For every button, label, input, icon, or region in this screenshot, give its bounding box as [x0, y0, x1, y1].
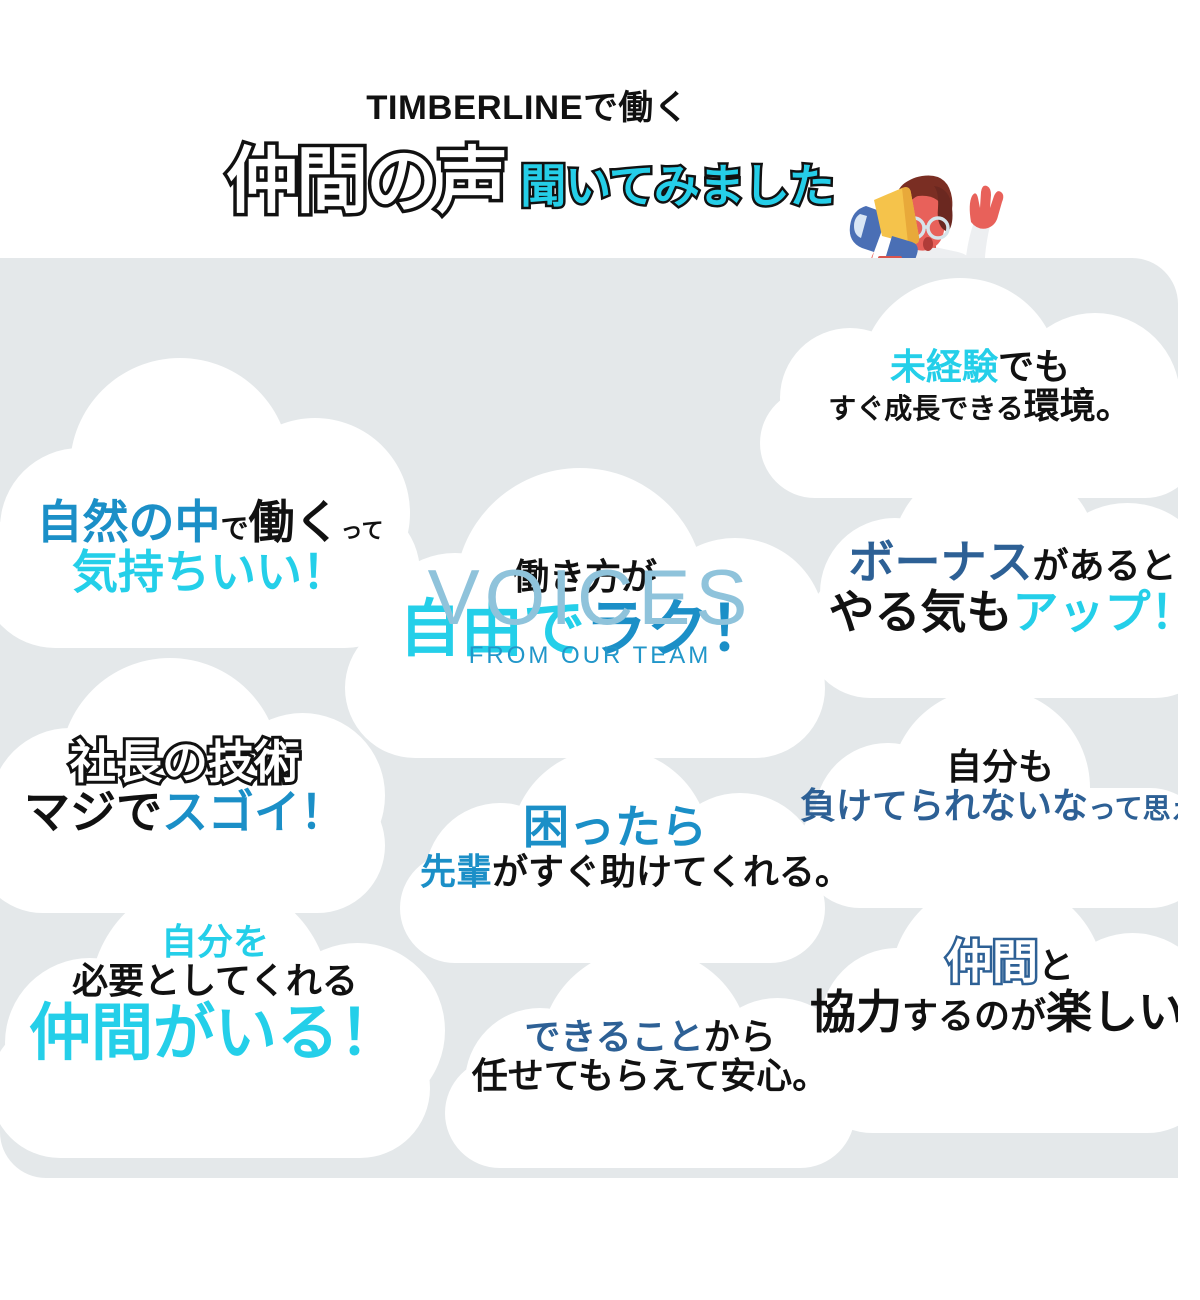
voice-text-teamwork: 仲間と協力するのが楽しい！ [810, 938, 1178, 1037]
voice-text-line: 負けてられないなって思える。 [800, 787, 1178, 826]
voice-text-line: 協力するのが楽しい！ [810, 988, 1178, 1038]
voice-text-inexperienced: 未経験でもすぐ成長できる環境。 [780, 348, 1178, 426]
voice-text-line: 気持ちいい！ [20, 548, 400, 598]
voice-text-segment: って思える。 [1088, 793, 1178, 824]
voice-text-segment: 環境。 [1024, 385, 1132, 426]
voice-text-line: 先輩がすぐ助けてくれる。 [420, 853, 810, 892]
voice-text-self-motivation: 自分も負けてられないなって思える。 [800, 748, 1178, 826]
voice-text-segment: 働く [249, 496, 341, 548]
voice-text-line: 自然の中で働くって [20, 498, 400, 548]
voice-text-start-small: できることから任せてもらえて安心。 [460, 1018, 840, 1096]
voice-text-nature: 自然の中で働くって気持ちいい！ [20, 498, 400, 597]
voice-text-segment: 楽しい！ [1046, 986, 1178, 1038]
voice-text-line: 自分を [20, 923, 410, 962]
voice-text-line: 仲間と [810, 938, 1178, 988]
voices-panel: 自然の中で働くって気持ちいい！ 未経験でもすぐ成長できる環境。 ボーナスがあると… [0, 258, 1178, 1178]
voice-cloud-senior-help: 困ったら先輩がすぐ助けてくれる。 [400, 748, 830, 968]
voice-cloud-bonus: ボーナスがあるとやる気もアップ！ [800, 458, 1178, 708]
headline-title: 仲間の声 [226, 142, 506, 222]
voice-text-segment: 仲間がいる！ [29, 999, 401, 1068]
voice-cloud-teamwork: 仲間と協力するのが楽しい！ [800, 878, 1178, 1138]
voices-page: TIMBERLINEで働く 仲間の声聞いてみました [0, 0, 1200, 1300]
clouds-container: 自然の中で働くって気持ちいい！ 未経験でもすぐ成長できる環境。 ボーナスがあると… [0, 258, 1178, 1178]
voice-text-segment: 必要としてくれる [72, 960, 358, 1001]
voice-text-line: ボーナスがあると [810, 538, 1178, 588]
voice-text-segment: 自然の中 [37, 496, 221, 548]
voice-text-segment: スゴイ！ [162, 786, 346, 838]
voice-text-segment: でも [998, 346, 1070, 387]
voice-text-segment: するのが [902, 995, 1046, 1036]
voice-text-line: 自分も [800, 748, 1178, 787]
voice-text-line: できることから [460, 1018, 840, 1057]
voice-cloud-start-small: できることから任せてもらえて安心。 [440, 948, 860, 1168]
headline-subtitle: 聞いてみました [520, 150, 834, 216]
voice-text-segment: 負けてられないな [800, 785, 1088, 826]
voice-text-line: マジでスゴイ！ [0, 788, 375, 838]
voice-text-segment: 社長の技術 [70, 736, 300, 788]
voice-text-line: 社長の技術 [0, 738, 375, 788]
voice-text-segment: すぐ成長できる [828, 393, 1023, 424]
voice-text-line: 必要としてくれる [20, 962, 410, 1001]
voice-text-segment: って [341, 518, 384, 543]
voice-text-needed-friends: 自分を必要としてくれる仲間がいる！ [20, 923, 410, 1068]
voice-text-segment: やる気も [829, 586, 1013, 638]
voice-text-segment: ボーナス [848, 536, 1032, 588]
voice-text-segment: があると [1032, 545, 1176, 586]
voice-text-segment: アップ！ [1013, 586, 1179, 638]
voice-text-segment: 未経験 [890, 346, 998, 387]
voice-text-segment: がすぐ助けてくれる。 [492, 851, 851, 892]
voices-logo-subtitle: FROM OUR TEAM [400, 642, 780, 670]
voice-text-segment: 協力 [810, 986, 902, 1038]
voice-text-line: 任せてもらえて安心。 [460, 1057, 840, 1096]
voice-text-bonus: ボーナスがあるとやる気もアップ！ [810, 538, 1178, 637]
voice-text-segment: 任せてもらえて安心。 [472, 1055, 828, 1096]
voice-text-line: やる気もアップ！ [810, 588, 1178, 638]
voice-text-segment: できること [524, 1016, 703, 1057]
page-headline: TIMBERLINEで働く 仲間の声聞いてみました [0, 60, 1200, 240]
voice-text-segment: 気持ちいい！ [72, 546, 348, 598]
voice-text-line: 困ったら [420, 803, 810, 853]
voice-text-segment: から [704, 1016, 776, 1057]
voice-text-segment: で [221, 513, 249, 544]
voices-logo: VOICES FROM OUR TEAM [400, 558, 780, 670]
voice-text-segment: マジで [24, 786, 162, 838]
voice-text-president-skill: 社長の技術マジでスゴイ！ [0, 738, 375, 837]
voice-text-segment: 困ったら [523, 801, 707, 853]
voice-text-line: すぐ成長できる環境。 [780, 387, 1178, 426]
voices-logo-title: VOICES [400, 558, 780, 636]
voice-text-segment: 自分を [161, 921, 269, 962]
voice-text-line: 未経験でも [780, 348, 1178, 387]
voice-cloud-needed-friends: 自分を必要としてくれる仲間がいる！ [0, 878, 440, 1158]
voice-text-segment: と [1038, 945, 1074, 986]
voice-text-segment: 自分も [946, 746, 1054, 787]
voice-text-senior-help: 困ったら先輩がすぐ助けてくれる。 [420, 803, 810, 892]
voice-text-segment: 先輩 [420, 851, 492, 892]
voice-text-segment: 仲間 [946, 936, 1038, 988]
voice-text-line: 仲間がいる！ [20, 1001, 410, 1068]
